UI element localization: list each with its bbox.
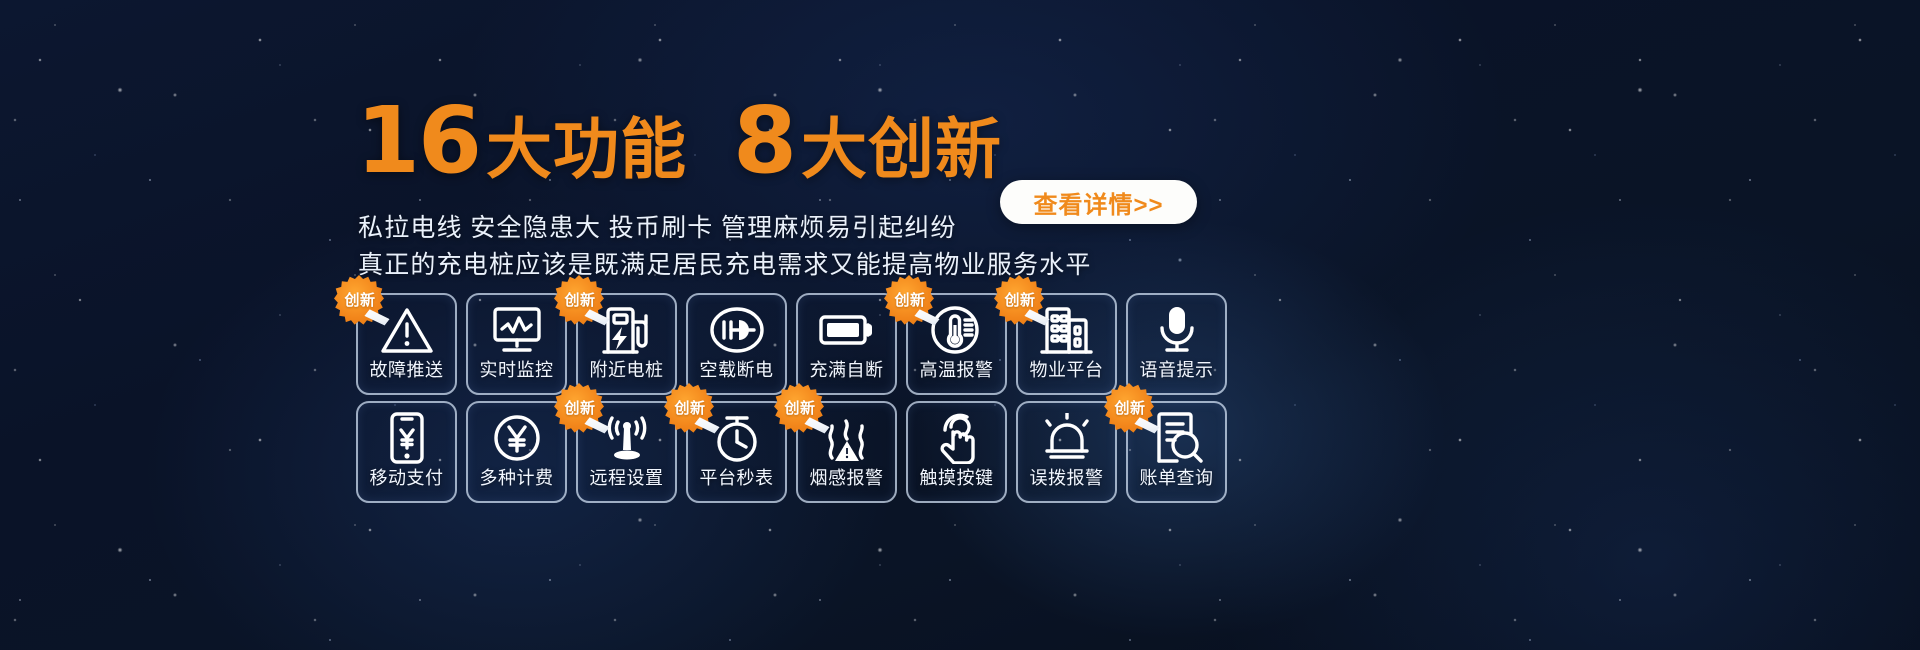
feature-tile[interactable]: 故障推送创新	[356, 293, 457, 395]
feature-tile-label: 高温报警	[920, 361, 994, 379]
stopwatch-icon	[688, 407, 785, 469]
feature-tile-label: 误拨报警	[1030, 469, 1104, 487]
feature-tile[interactable]: 附近电桩创新	[576, 293, 677, 395]
view-details-button[interactable]: 查看详情>>	[1000, 180, 1197, 224]
feature-tile-label: 触摸按键	[920, 469, 994, 487]
feature-tile-box: 多种计费	[466, 401, 567, 503]
antenna-signal-icon	[578, 407, 675, 469]
feature-tile-label: 附近电桩	[590, 361, 664, 379]
feature-tile-box: 触摸按键	[906, 401, 1007, 503]
promo-banner: 16 大功能 8 大创新 私拉电线 安全隐患大 投币刷卡 管理麻烦易引起纠纷 真…	[0, 0, 1920, 650]
feature-tile[interactable]: 高温报警创新	[906, 293, 1007, 395]
feature-tile-label: 平台秒表	[700, 469, 774, 487]
microphone-icon	[1128, 299, 1225, 361]
feature-tile-box: 物业平台	[1016, 293, 1117, 395]
feature-tile[interactable]: 实时监控	[466, 293, 567, 395]
feature-tile-label: 实时监控	[480, 361, 554, 379]
feature-tile-label: 空载断电	[700, 361, 774, 379]
feature-tile-label: 账单查询	[1140, 469, 1214, 487]
mobile-yuan-icon	[358, 407, 455, 469]
headline-number-16: 16	[356, 95, 480, 187]
view-details-label: 查看详情>>	[1033, 185, 1163, 220]
feature-tile-label: 故障推送	[370, 361, 444, 379]
smoke-alarm-icon	[798, 407, 895, 469]
subtitle-line-2: 真正的充电桩应该是既满足居民充电需求又能提高物业服务水平	[358, 245, 1092, 281]
feature-tile[interactable]: 触摸按键	[906, 401, 1007, 503]
headline-text-innovations: 大创新	[801, 116, 1002, 182]
feature-tile[interactable]: 多种计费	[466, 401, 567, 503]
feature-tile-box: 高温报警	[906, 293, 1007, 395]
feature-tile[interactable]: 误拨报警	[1016, 401, 1117, 503]
feature-tile[interactable]: 充满自断	[796, 293, 897, 395]
feature-tile[interactable]: 平台秒表创新	[686, 401, 787, 503]
touch-hand-icon	[908, 407, 1005, 469]
feature-tile-box: 平台秒表	[686, 401, 787, 503]
feature-tile-label: 移动支付	[370, 469, 444, 487]
monitor-waveform-icon	[468, 299, 565, 361]
feature-tile-box: 账单查询	[1126, 401, 1227, 503]
feature-tile[interactable]: 语音提示	[1126, 293, 1227, 395]
feature-tile-box: 烟感报警	[796, 401, 897, 503]
feature-tile-label: 语音提示	[1140, 361, 1214, 379]
feature-tile-label: 多种计费	[480, 469, 554, 487]
feature-tile-box: 充满自断	[796, 293, 897, 395]
thermometer-circle-icon	[908, 299, 1005, 361]
bill-search-icon	[1128, 407, 1225, 469]
plug-circle-icon	[688, 299, 785, 361]
buildings-icon	[1018, 299, 1115, 361]
battery-full-icon	[798, 299, 895, 361]
yuan-circle-icon	[468, 407, 565, 469]
charging-station-icon	[578, 299, 675, 361]
feature-tile-box: 移动支付	[356, 401, 457, 503]
feature-tile[interactable]: 移动支付	[356, 401, 457, 503]
feature-tile-label: 物业平台	[1030, 361, 1104, 379]
feature-tile[interactable]: 空载断电	[686, 293, 787, 395]
feature-tile[interactable]: 账单查询创新	[1126, 401, 1227, 503]
feature-tile[interactable]: 烟感报警创新	[796, 401, 897, 503]
warning-triangle-icon	[358, 299, 455, 361]
feature-grid: 故障推送创新实时监控附近电桩创新空载断电充满自断高温报警创新物业平台创新语音提示…	[356, 293, 1227, 503]
feature-tile-box: 实时监控	[466, 293, 567, 395]
subtitle-line-1: 私拉电线 安全隐患大 投币刷卡 管理麻烦易引起纠纷	[358, 208, 957, 244]
siren-icon	[1018, 407, 1115, 469]
feature-tile-box: 语音提示	[1126, 293, 1227, 395]
feature-tile-box: 误拨报警	[1016, 401, 1117, 503]
feature-tile[interactable]: 物业平台创新	[1016, 293, 1117, 395]
feature-tile-box: 附近电桩	[576, 293, 677, 395]
feature-tile-box: 空载断电	[686, 293, 787, 395]
feature-tile[interactable]: 远程设置创新	[576, 401, 677, 503]
feature-tile-box: 远程设置	[576, 401, 677, 503]
feature-tile-box: 故障推送	[356, 293, 457, 395]
headline-text-functions: 大功能	[486, 116, 687, 182]
feature-tile-label: 烟感报警	[810, 469, 884, 487]
feature-tile-label: 远程设置	[590, 469, 664, 487]
headline: 16 大功能 8 大创新	[356, 95, 1002, 187]
feature-tile-label: 充满自断	[810, 361, 884, 379]
headline-number-8: 8	[733, 95, 795, 187]
